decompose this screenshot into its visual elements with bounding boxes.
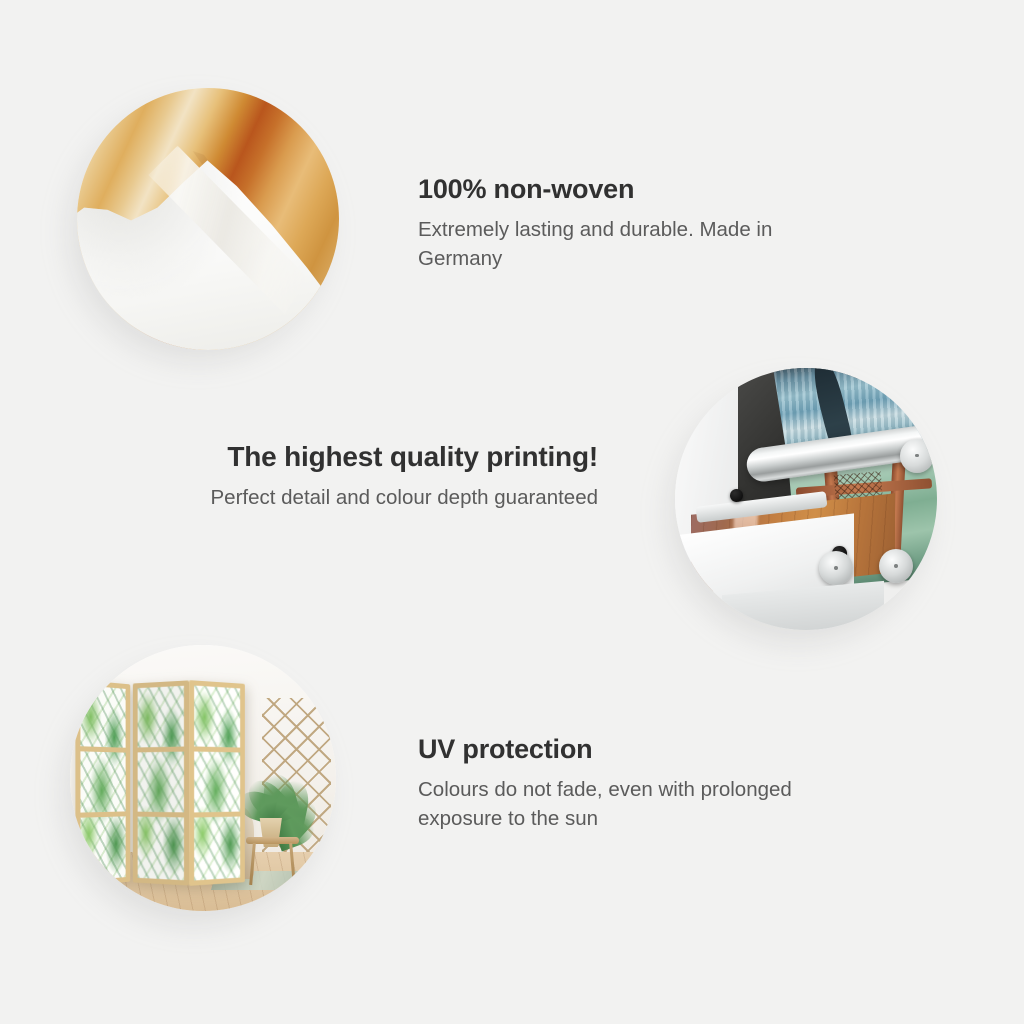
- feature-text-printing: The highest quality printing! Perfect de…: [180, 442, 598, 512]
- feature-text-uv-protection: UV protection Colours do not fade, even …: [418, 735, 818, 833]
- feature-text-non-woven: 100% non-woven Extremely lasting and dur…: [418, 175, 858, 273]
- roller-end-cap: [900, 439, 934, 473]
- printer-wheel-right: [879, 549, 913, 583]
- infographic-canvas: 100% non-woven Extremely lasting and dur…: [0, 0, 1024, 1024]
- feature-description-uv-protection: Colours do not fade, even with prolonged…: [418, 775, 818, 833]
- feature-image-non-woven: [77, 88, 339, 350]
- side-table-leg-right: [289, 843, 295, 885]
- feature-title-printing: The highest quality printing!: [180, 442, 598, 473]
- divider-panel-2: [133, 681, 189, 886]
- divider-panel-1: [76, 680, 131, 887]
- feature-title-non-woven: 100% non-woven: [418, 175, 858, 205]
- potted-palm-plant: [235, 757, 309, 826]
- feature-image-printing: [675, 368, 937, 630]
- side-table-leg-left: [249, 843, 255, 885]
- printer-knob-left: [730, 489, 743, 502]
- side-table: [246, 837, 299, 885]
- divider-panel-3: [189, 680, 245, 886]
- feature-description-printing: Perfect detail and colour depth guarante…: [180, 483, 598, 512]
- feature-image-uv-protection: [70, 645, 336, 911]
- feature-description-non-woven: Extremely lasting and durable. Made in G…: [418, 215, 858, 273]
- feature-title-uv-protection: UV protection: [418, 735, 818, 765]
- tropical-room-divider: [75, 682, 245, 884]
